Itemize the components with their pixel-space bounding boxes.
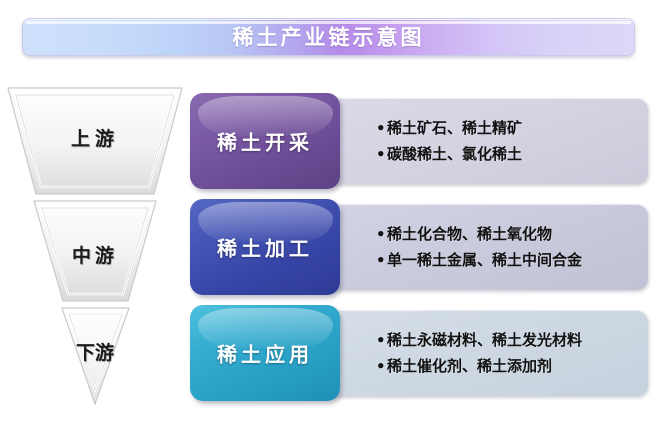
bullet-icon: • — [376, 141, 387, 167]
diagram-canvas: 稀土产业链示意图 上游 — [0, 0, 661, 436]
funnel-label-downstream: 下游 — [66, 334, 124, 372]
list-item-text: 稀土化合物、稀土氧化物 — [387, 225, 552, 243]
bullet-icon: • — [376, 247, 387, 273]
stage-chip-mining-label: 稀土开采 — [190, 127, 340, 156]
funnel-segment-upstream: 上游 — [6, 86, 184, 196]
page-title: 稀土产业链示意图 — [23, 27, 634, 48]
funnel-segment-downstream: 下游 — [6, 306, 184, 406]
bullet-icon: • — [376, 353, 387, 379]
funnel-label-upstream: 上游 — [6, 124, 184, 151]
detail-list-mining: •稀土矿石、稀土精矿 •碳酸稀土、氯化稀土 — [376, 115, 638, 167]
chain-row-application: •稀土永磁材料、稀土发光材料 •稀土催化剂、稀土添加剂 稀土应用 — [190, 305, 648, 401]
stage-chip-application-label: 稀土应用 — [190, 339, 340, 368]
list-item-text: 碳酸稀土、氯化稀土 — [387, 145, 522, 163]
funnel-graphic: 上游 中游 — [6, 86, 184, 406]
list-item-text: 稀土催化剂、稀土添加剂 — [387, 357, 552, 375]
title-banner: 稀土产业链示意图 — [22, 18, 635, 56]
stage-chip-mining[interactable]: 稀土开采 — [190, 93, 340, 189]
list-item: •稀土矿石、稀土精矿 — [376, 115, 638, 141]
funnel-label-midstream: 中游 — [6, 241, 184, 268]
chain-row-mining: •稀土矿石、稀土精矿 •碳酸稀土、氯化稀土 稀土开采 — [190, 93, 648, 189]
list-item-text: 稀土矿石、稀土精矿 — [387, 119, 522, 137]
stage-chip-processing[interactable]: 稀土加工 — [190, 199, 340, 295]
list-item-text: 稀土永磁材料、稀土发光材料 — [387, 331, 582, 349]
list-item: •碳酸稀土、氯化稀土 — [376, 141, 638, 167]
stage-chip-processing-label: 稀土加工 — [190, 233, 340, 262]
funnel-segment-midstream: 中游 — [6, 199, 184, 303]
detail-list-application: •稀土永磁材料、稀土发光材料 •稀土催化剂、稀土添加剂 — [376, 327, 638, 379]
bullet-icon: • — [376, 327, 387, 353]
bullet-icon: • — [376, 115, 387, 141]
list-item: •稀土化合物、稀土氧化物 — [376, 221, 638, 247]
chain-row-processing: •稀土化合物、稀土氧化物 •单一稀土金属、稀土中间合金 稀土加工 — [190, 199, 648, 295]
list-item-text: 单一稀土金属、稀土中间合金 — [387, 251, 582, 269]
detail-list-processing: •稀土化合物、稀土氧化物 •单一稀土金属、稀土中间合金 — [376, 221, 638, 273]
list-item: •稀土永磁材料、稀土发光材料 — [376, 327, 638, 353]
list-item: •稀土催化剂、稀土添加剂 — [376, 353, 638, 379]
list-item: •单一稀土金属、稀土中间合金 — [376, 247, 638, 273]
stage-chip-application[interactable]: 稀土应用 — [190, 305, 340, 401]
bullet-icon: • — [376, 221, 387, 247]
